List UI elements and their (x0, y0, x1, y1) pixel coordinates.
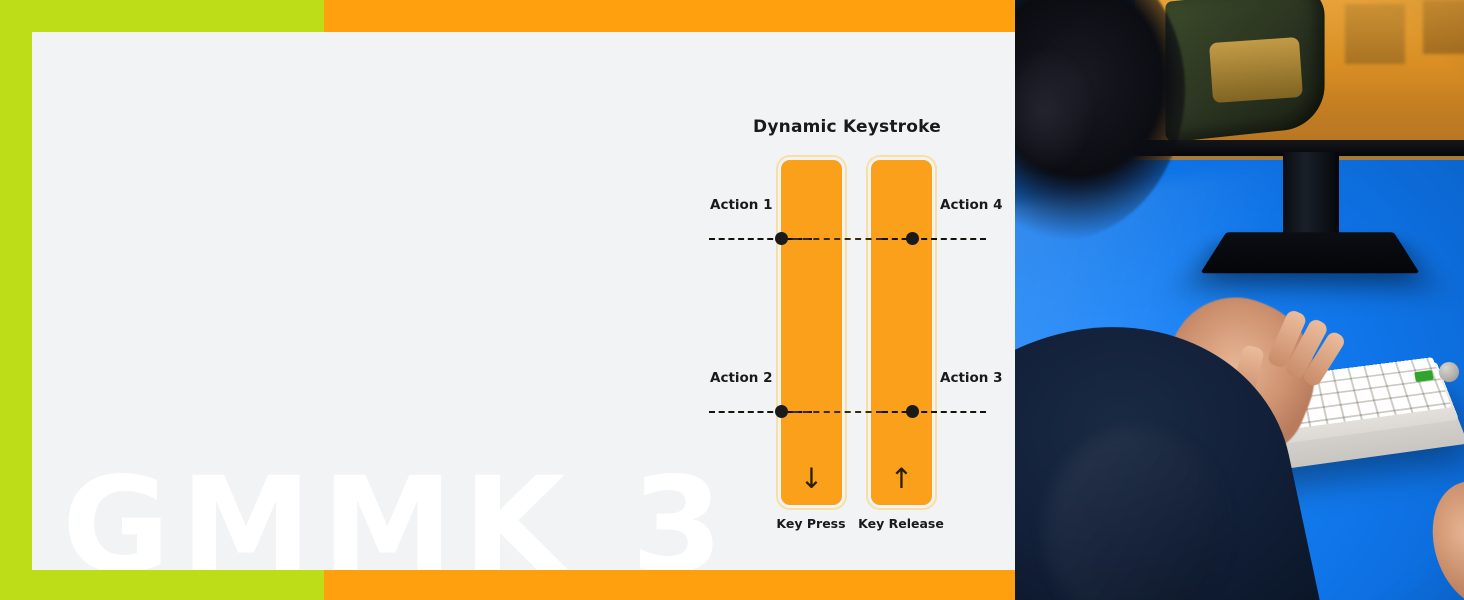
arrow-up-icon: ↑ (871, 465, 932, 493)
dashed-line-right (882, 238, 986, 240)
content-panel: GMMK 3 Dynamic Keystroke ↓ Key Press ↑ K… (32, 32, 1015, 570)
actuation-dot-right (906, 405, 919, 418)
action-label-3: Action 3 (940, 370, 1003, 386)
actuation-dot-left (775, 232, 788, 245)
key-press-bar: ↓ (781, 160, 842, 505)
dynamic-keystroke-diagram: Dynamic Keystroke ↓ Key Press ↑ Key Rele… (677, 87, 1015, 542)
promo-banner: GMMK 3 Dynamic Keystroke ↓ Key Press ↑ K… (0, 0, 1464, 600)
action-label-2: Action 2 (710, 370, 773, 386)
arrow-down-icon: ↓ (781, 465, 842, 493)
dashed-line-middle (782, 238, 882, 240)
key-release-caption: Key Release (846, 516, 956, 531)
photo-vignette (1015, 0, 1464, 600)
key-release-bar: ↑ (871, 160, 932, 505)
action-label-4: Action 4 (940, 197, 1003, 213)
dashed-line-right (882, 411, 986, 413)
dashed-line-middle (782, 411, 882, 413)
gmmk3-watermark: GMMK 3 (62, 460, 733, 570)
promo-panel: GMMK 3 Dynamic Keystroke ↓ Key Press ↑ K… (0, 0, 1015, 600)
actuation-dot-right (906, 232, 919, 245)
action-label-1: Action 1 (710, 197, 773, 213)
orange-band-bottom (324, 570, 1015, 600)
lifestyle-photo (1015, 0, 1464, 600)
diagram-title: Dynamic Keystroke (677, 117, 1015, 137)
actuation-dot-left (775, 405, 788, 418)
orange-band-top (324, 0, 1015, 32)
